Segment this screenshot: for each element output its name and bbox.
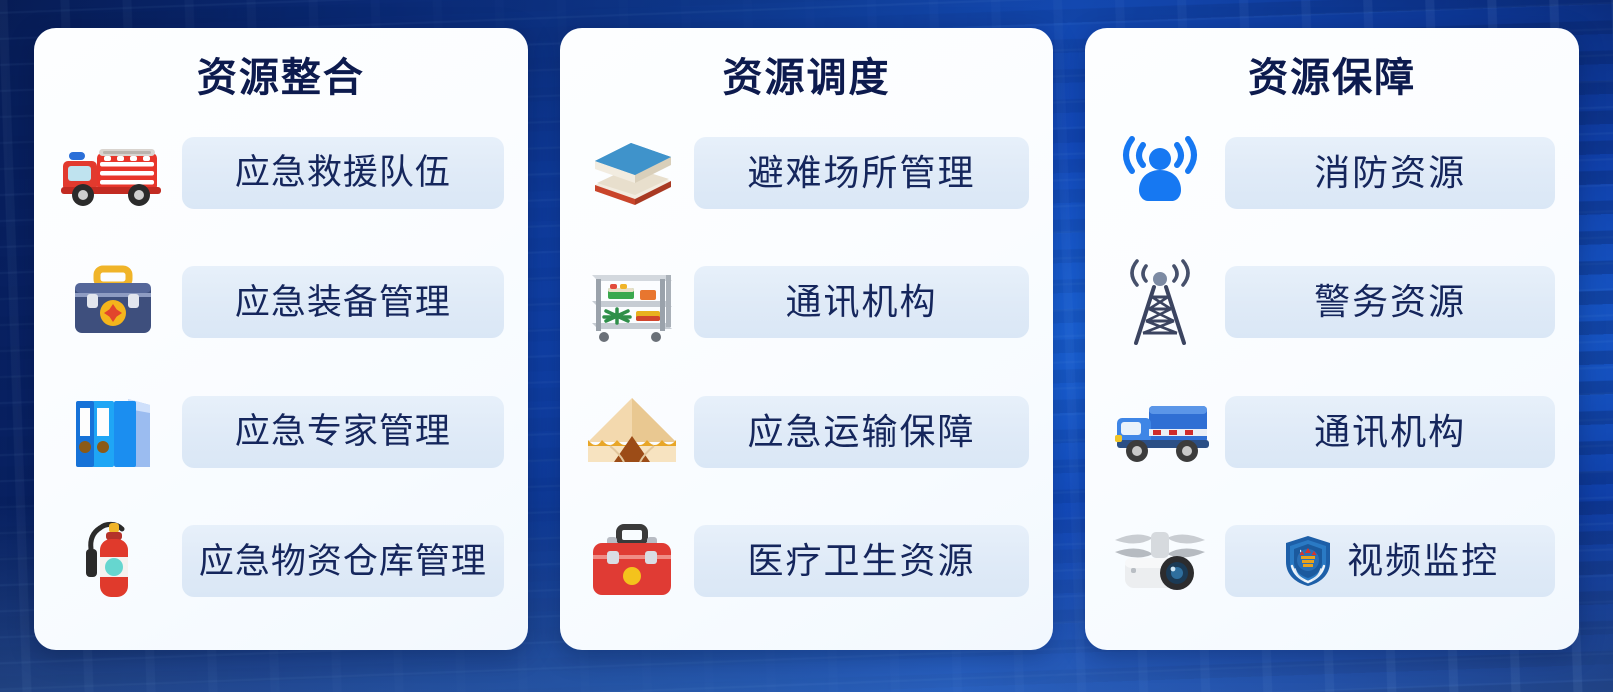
list-item[interactable]: 通讯机构 xyxy=(1109,389,1555,475)
list-item[interactable]: 应急运输保障 xyxy=(584,389,1030,475)
pill-label: 消防资源 xyxy=(1314,155,1466,191)
tent-icon xyxy=(584,391,680,473)
fire-truck-icon xyxy=(58,132,168,214)
pill-label: 警务资源 xyxy=(1314,284,1466,320)
cards-row: 资源整合 xyxy=(34,28,1579,650)
pill-label: 应急装备管理 xyxy=(235,285,451,320)
list-item[interactable]: 应急物资仓库管理 xyxy=(58,518,504,604)
pill[interactable]: 应急救援队伍 xyxy=(182,137,504,209)
pill-label: 避难场所管理 xyxy=(748,155,976,191)
pill[interactable]: 医疗卫生资源 xyxy=(694,525,1030,597)
pill-label: 应急救援队伍 xyxy=(235,155,451,190)
pill[interactable]: 视频监控 xyxy=(1225,525,1555,597)
card-rows: 应急救援队伍 应急装备管理 xyxy=(58,104,504,632)
list-item[interactable]: 应急专家管理 xyxy=(58,389,504,475)
pill-label: 视频监控 xyxy=(1347,543,1499,579)
pill[interactable]: 应急装备管理 xyxy=(182,266,504,338)
pill[interactable]: 警务资源 xyxy=(1225,266,1555,338)
pill-label: 应急物资仓库管理 xyxy=(199,544,487,579)
list-item[interactable]: 应急装备管理 xyxy=(58,259,504,345)
pill[interactable]: 应急运输保障 xyxy=(694,396,1030,468)
toolbox-icon xyxy=(58,261,168,343)
pill[interactable]: 应急专家管理 xyxy=(182,396,504,468)
card-resource-dispatch: 资源调度 避难场所管理 xyxy=(560,28,1054,650)
list-item[interactable]: 避难场所管理 xyxy=(584,130,1030,216)
pill[interactable]: 避难场所管理 xyxy=(694,137,1030,209)
list-item[interactable]: 应急救援队伍 xyxy=(58,130,504,216)
list-item[interactable]: 消防资源 xyxy=(1109,130,1555,216)
pill[interactable]: 消防资源 xyxy=(1225,137,1555,209)
card-title: 资源整合 xyxy=(58,56,504,100)
card-title: 资源调度 xyxy=(584,56,1030,100)
pill-label: 通讯机构 xyxy=(1314,414,1466,450)
medical-case-icon xyxy=(584,520,680,602)
list-item[interactable]: 医疗卫生资源 xyxy=(584,518,1030,604)
blue-truck-icon xyxy=(1109,391,1211,473)
list-item[interactable]: 通讯机构 xyxy=(584,259,1030,345)
list-item[interactable]: 视频监控 xyxy=(1109,518,1555,604)
pill[interactable]: 通讯机构 xyxy=(694,266,1030,338)
books-icon xyxy=(584,132,680,214)
pill-label: 通讯机构 xyxy=(786,284,938,320)
list-item[interactable]: 警务资源 xyxy=(1109,259,1555,345)
cctv-camera-icon xyxy=(1109,520,1211,602)
card-resource-guarantee: 资源保障 消防资源 xyxy=(1085,28,1579,650)
pill[interactable]: 应急物资仓库管理 xyxy=(182,525,504,597)
card-rows: 避难场所管理 xyxy=(584,104,1030,632)
pill[interactable]: 通讯机构 xyxy=(1225,396,1555,468)
card-title: 资源保障 xyxy=(1109,56,1555,100)
card-resource-integration: 资源整合 xyxy=(34,28,528,650)
binders-icon xyxy=(58,391,168,473)
fire-extinguisher-icon xyxy=(58,520,168,602)
pill-label: 应急专家管理 xyxy=(235,414,451,449)
pill-label: 医疗卫生资源 xyxy=(748,543,976,579)
police-emblem-icon xyxy=(1281,533,1335,589)
supply-cart-icon xyxy=(584,261,680,343)
radio-tower-icon xyxy=(1109,261,1211,343)
pill-label: 应急运输保障 xyxy=(748,414,976,450)
broadcast-person-icon xyxy=(1109,132,1211,214)
card-rows: 消防资源 警务资源 xyxy=(1109,104,1555,632)
